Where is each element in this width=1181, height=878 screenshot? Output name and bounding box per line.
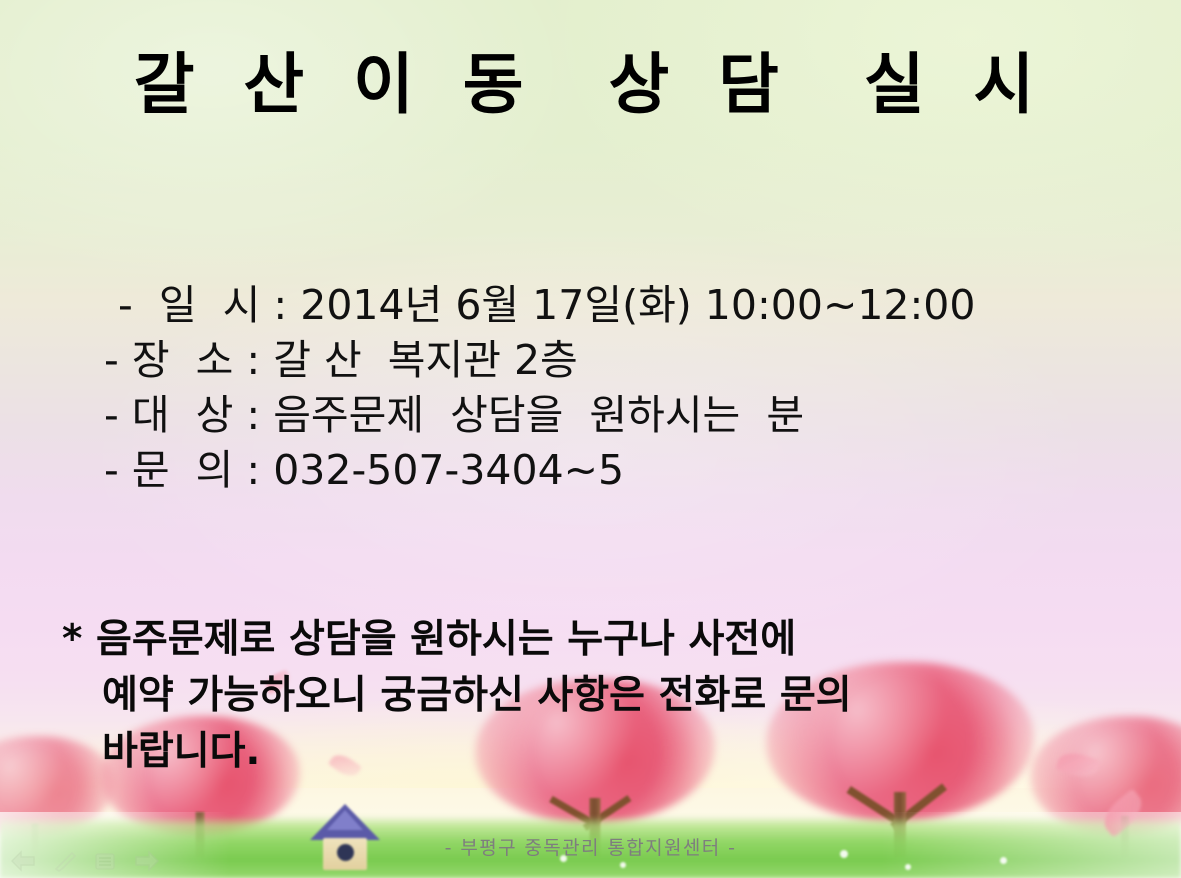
detail-line-audience: - 대 상 : 음주문제 상담을 원하시는 분 bbox=[104, 388, 1104, 443]
sparkle bbox=[905, 864, 911, 870]
presentation-slide: 갈 산 이 동 상 담 실 시 - 일 시 : 2014년 6월 17일(화) … bbox=[0, 0, 1181, 878]
organization-footer: - 부평구 중독관리 통합지원센터 - bbox=[0, 833, 1181, 860]
event-details-list: - 일 시 : 2014년 6월 17일(화) 10:00~12:00 - 장 … bbox=[104, 278, 1104, 498]
sparkle bbox=[620, 862, 626, 868]
next-arrow-icon[interactable] bbox=[132, 850, 162, 872]
previous-arrow-icon[interactable] bbox=[8, 850, 38, 872]
menu-icon[interactable] bbox=[92, 850, 118, 872]
pen-icon[interactable] bbox=[52, 850, 78, 872]
detail-line-location: - 장 소 : 갈 산 복지관 2층 bbox=[104, 333, 1104, 388]
slide-title: 갈 산 이 동 상 담 실 시 bbox=[0, 52, 1181, 118]
birdhouse-roof-highlight bbox=[327, 810, 363, 830]
detail-line-datetime: - 일 시 : 2014년 6월 17일(화) 10:00~12:00 bbox=[104, 278, 1104, 333]
note-line-3: 바랍니다. bbox=[62, 724, 1142, 780]
note-line-2: 예약 가능하오니 궁금하신 사항은 전화로 문의 bbox=[62, 668, 1142, 724]
note-line-1: * 음주문제로 상담을 원하시는 누구나 사전에 bbox=[62, 612, 1142, 668]
slideshow-nav-controls[interactable] bbox=[8, 850, 162, 872]
reservation-note: * 음주문제로 상담을 원하시는 누구나 사전에 예약 가능하오니 궁금하신 사… bbox=[62, 612, 1142, 780]
detail-line-contact: - 문 의 : 032-507-3404~5 bbox=[104, 443, 1104, 498]
